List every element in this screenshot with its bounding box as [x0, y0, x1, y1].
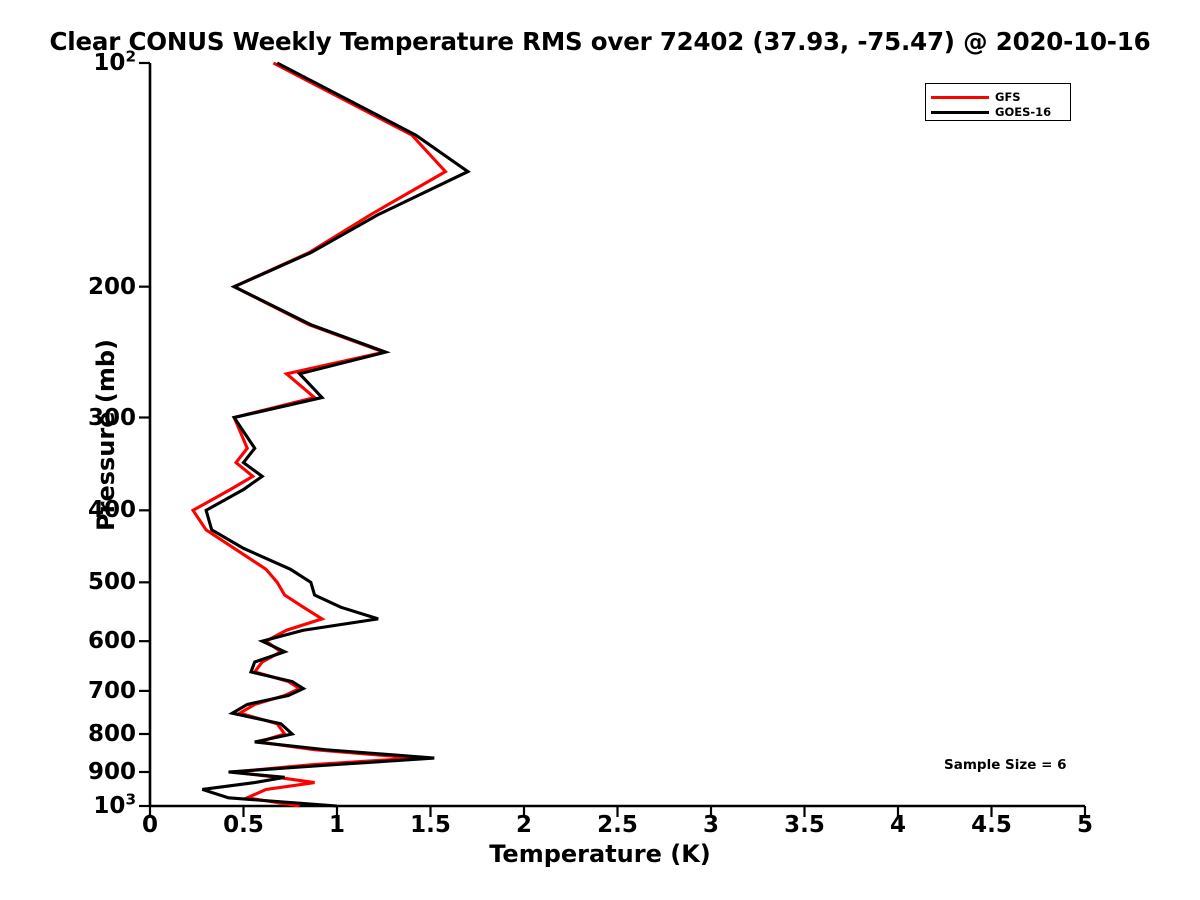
legend-item: GOES-16 — [931, 104, 1051, 120]
legend-label: GOES-16 — [995, 105, 1051, 119]
y-tick-label: 600 — [88, 628, 136, 654]
x-tick-label: 4 — [890, 812, 906, 838]
y-axis-ticks — [139, 63, 150, 806]
x-tick-label: 3 — [703, 812, 719, 838]
x-tick-label: 1.5 — [410, 812, 451, 838]
x-tick-label: 0 — [142, 812, 158, 838]
x-tick-label: 5 — [1077, 812, 1093, 838]
x-tick-label: 0.5 — [223, 812, 264, 838]
legend: GFSGOES-16 — [925, 83, 1071, 121]
y-tick-label: 700 — [88, 678, 136, 704]
legend-color-swatch — [931, 111, 989, 114]
x-axis-label: Temperature (K) — [0, 840, 1200, 868]
figure-canvas: Clear CONUS Weekly Temperature RMS over … — [0, 0, 1200, 900]
legend-color-swatch — [931, 96, 989, 99]
sample-size-annotation: Sample Size = 6 — [944, 757, 1067, 773]
x-tick-label: 3.5 — [784, 812, 825, 838]
legend-item: GFS — [931, 89, 1021, 105]
y-tick-label: 103 — [93, 793, 136, 819]
plot-area: Pressure (mb) — [150, 63, 1085, 806]
y-tick-label: 400 — [88, 497, 136, 523]
y-tick-label: 500 — [88, 569, 136, 595]
y-tick-label: 800 — [88, 721, 136, 747]
x-tick-label: 4.5 — [971, 812, 1012, 838]
y-tick-label: 300 — [88, 405, 136, 431]
y-tick-label: 900 — [88, 759, 136, 785]
x-tick-label: 2.5 — [597, 812, 638, 838]
legend-label: GFS — [995, 90, 1021, 104]
x-tick-label: 2 — [516, 812, 532, 838]
y-tick-label: 200 — [88, 274, 136, 300]
x-tick-label: 1 — [329, 812, 345, 838]
y-tick-label: 102 — [93, 50, 136, 76]
